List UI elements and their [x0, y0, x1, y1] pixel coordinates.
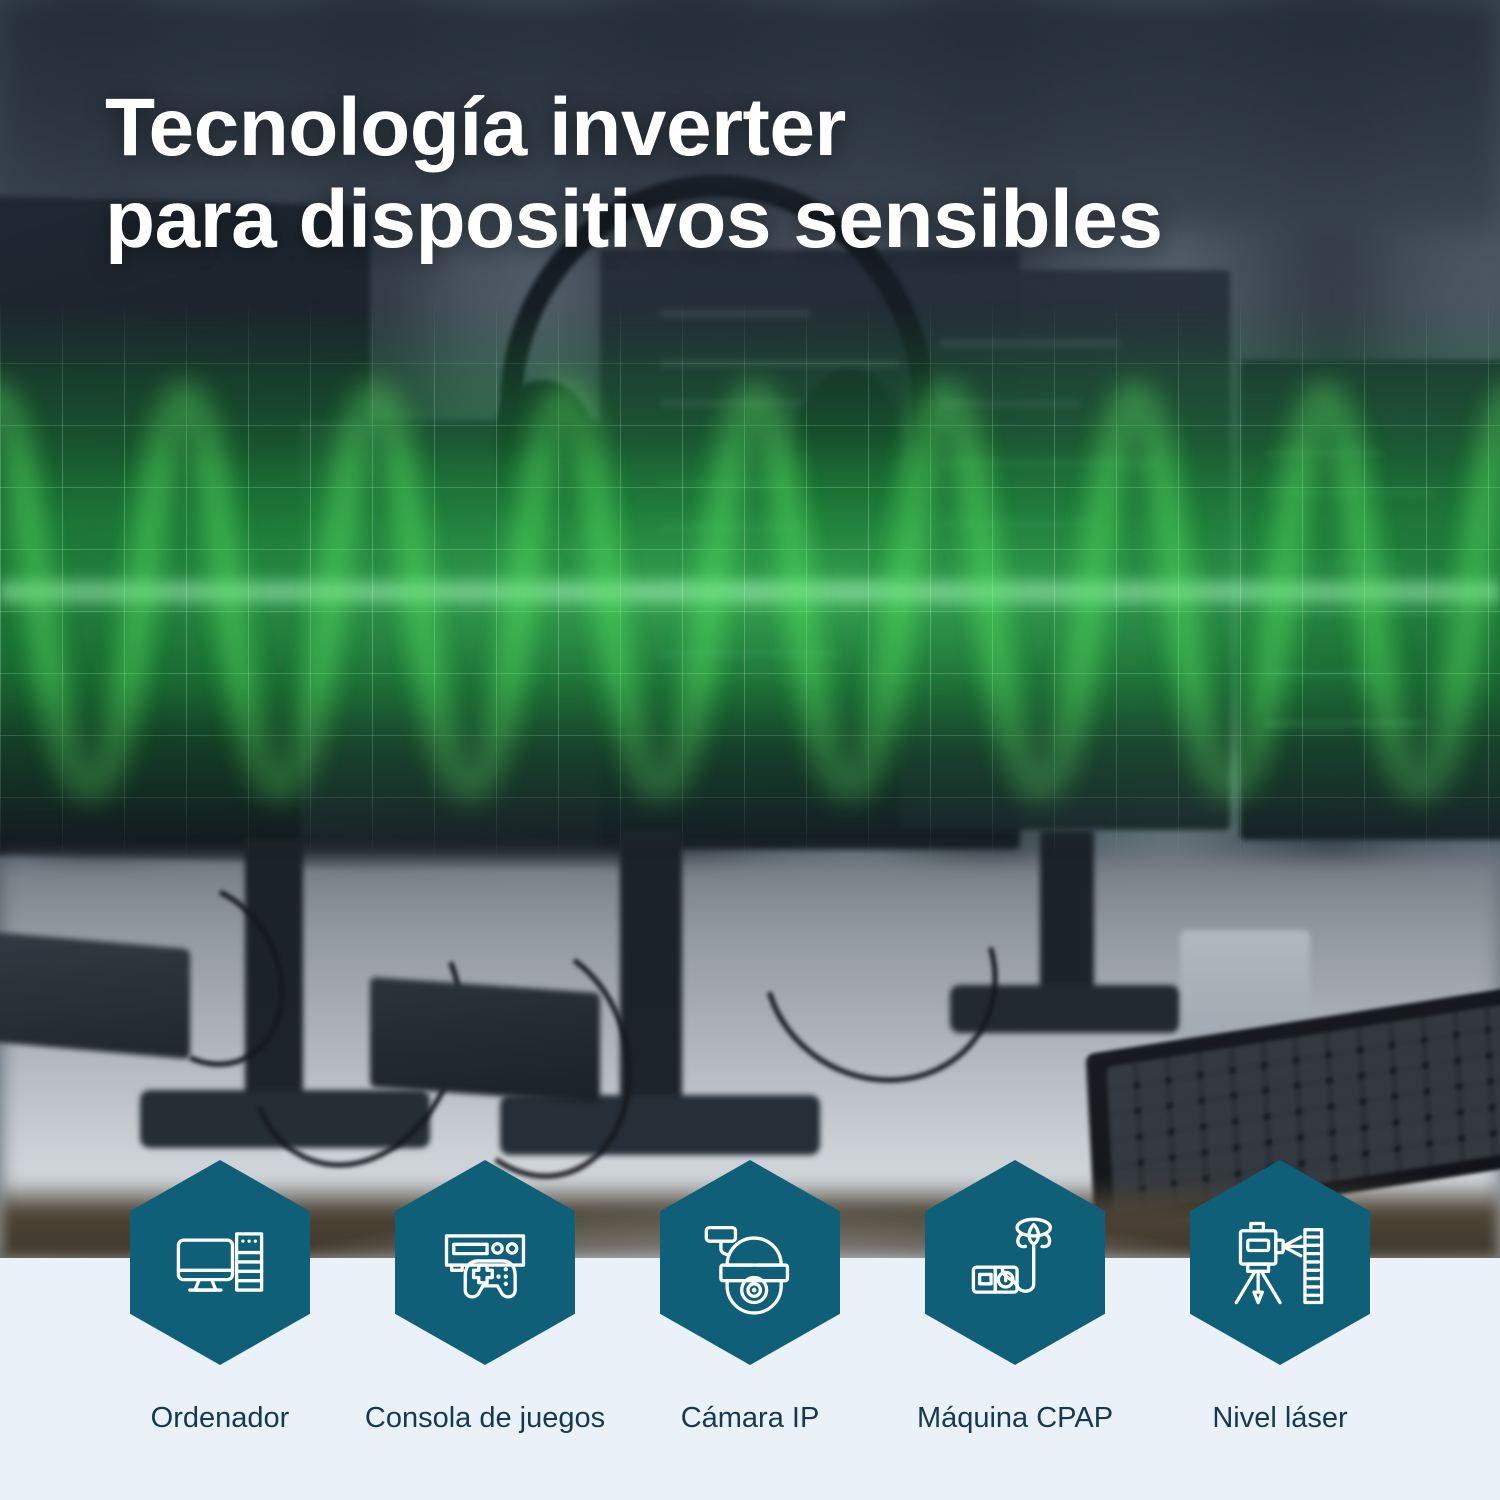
hex-badge-consola[interactable] [395, 1160, 575, 1365]
hex-badge-camara[interactable] [660, 1160, 840, 1365]
title-line-1: Tecnología inverter [105, 82, 846, 173]
sine-wave-overlay [0, 300, 1500, 860]
title-line-2: para dispositivos sensibles [105, 174, 1375, 266]
promo-banner: Tecnología inverter para dispositivos se… [0, 0, 1500, 1500]
device-label-camara: Cámara IP [681, 1403, 820, 1435]
laser-level-icon [1228, 1211, 1332, 1315]
page-title: Tecnología inverter para dispositivos se… [105, 82, 1375, 266]
ip-camera-icon [698, 1211, 802, 1315]
game-console-icon [433, 1211, 537, 1315]
device-label-consola: Consola de juegos [365, 1403, 605, 1435]
device-item-ordenador[interactable]: Ordenador [130, 1160, 310, 1435]
device-label-nivel: Nivel láser [1212, 1403, 1347, 1435]
hex-badge-ordenador[interactable] [130, 1160, 310, 1365]
device-item-nivel[interactable]: Nivel láser [1190, 1160, 1370, 1435]
device-item-camara[interactable]: Cámara IP [660, 1160, 840, 1435]
device-badge-row: Ordenador Consola de jueg [0, 1160, 1500, 1500]
hex-badge-cpap[interactable] [925, 1160, 1105, 1365]
device-label-cpap: Máquina CPAP [917, 1403, 1113, 1435]
sine-wave-curve [0, 300, 1500, 860]
device-item-cpap[interactable]: Máquina CPAP [925, 1160, 1105, 1435]
desktop-computer-icon [168, 1211, 272, 1315]
device-label-ordenador: Ordenador [151, 1403, 290, 1435]
cpap-machine-icon [963, 1211, 1067, 1315]
hex-badge-nivel[interactable] [1190, 1160, 1370, 1365]
device-item-consola[interactable]: Consola de juegos [395, 1160, 575, 1435]
